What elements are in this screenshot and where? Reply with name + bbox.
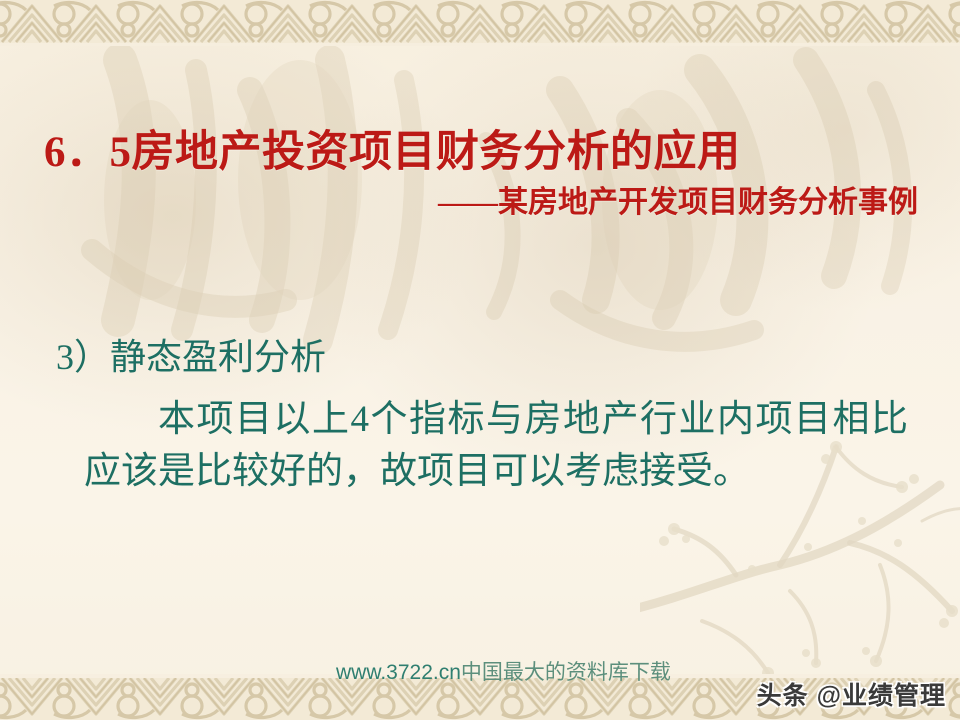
footer-url-label: 中国最大的资料库下载 [461, 661, 671, 684]
footer-url-domain: www.3722.cn [336, 661, 461, 684]
slide-title: 6．5房地产投资项目财务分析的应用 [0, 128, 960, 179]
footer-source-url: www.3722.cn中国最大的资料库下载 [336, 660, 686, 687]
body-heading: 3）静态盈利分析 [0, 336, 960, 380]
presentation-slide: 6．5房地产投资项目财务分析的应用 ——某房地产开发项目财务分析事例 3）静态盈… [0, 0, 960, 720]
slide-subtitle: ——某房地产开发项目财务分析事例 [0, 185, 960, 221]
title-block: 6．5房地产投资项目财务分析的应用 ——某房地产开发项目财务分析事例 [0, 128, 960, 221]
body-paragraph: 本项目以上4个指标与房地产行业内项目相比应该是比较好的，故项目可以考虑接受。 [0, 394, 960, 499]
body-block: 3）静态盈利分析 本项目以上4个指标与房地产行业内项目相比应该是比较好的，故项目… [0, 336, 960, 499]
brand-watermark: 头条 @业绩管理 [757, 676, 946, 712]
